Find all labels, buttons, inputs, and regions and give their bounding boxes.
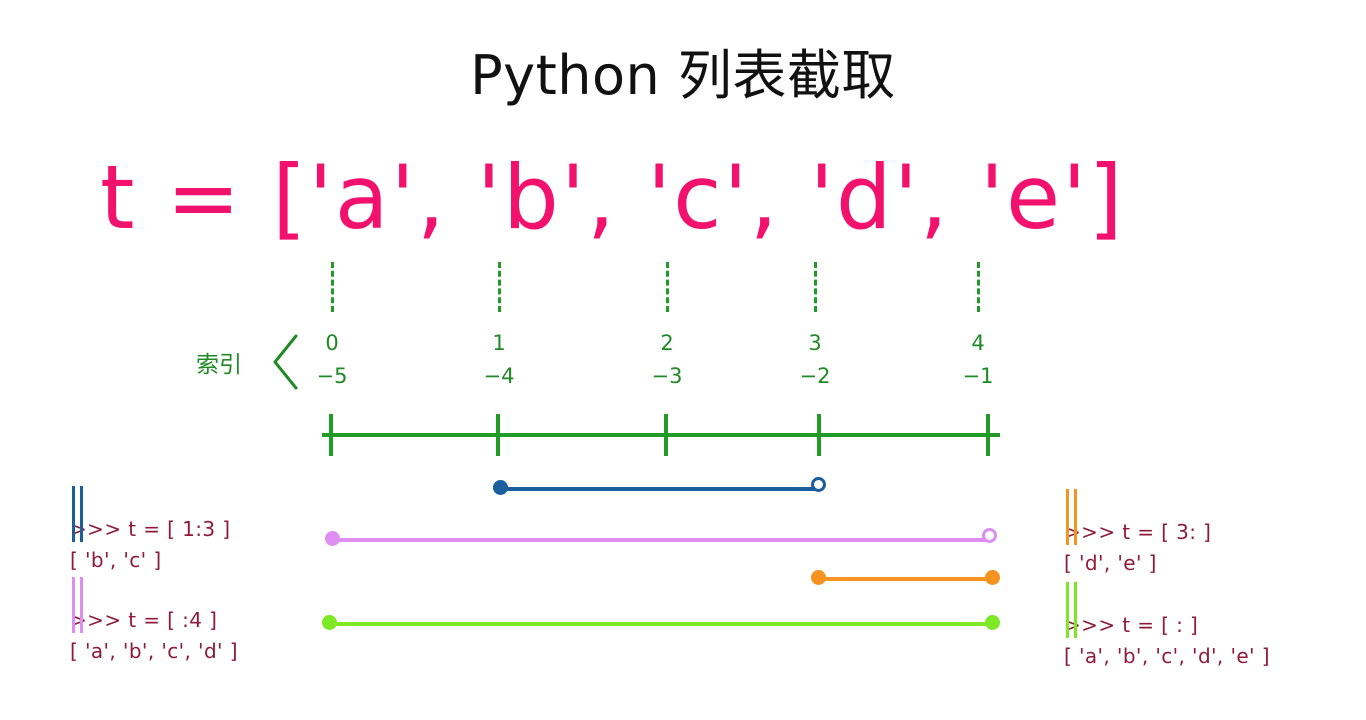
index-label-4: 4 −1 [938,333,1018,387]
index-negative-1: −4 [459,366,539,387]
slice-code-all: >>> t = [ : ] [1064,610,1270,641]
slice-endpoint-start-colon-4 [325,531,340,546]
slice-endpoint-end-3-colon [985,570,1000,585]
page-title: Python 列表截取 [0,48,1366,105]
accent-bars-colon-4 [70,577,86,633]
slice-caption-colon-4: >>> t = [ :4 ] [ 'a', 'b', 'c', 'd' ] [70,574,238,667]
index-negative-3: −2 [775,366,855,387]
slice-caption-1-3: >>> t = [ 1:3 ] [ 'b', 'c' ] [70,483,230,576]
index-label-2: 2 −3 [627,333,707,387]
accent-bars-3-colon [1064,489,1080,545]
index-leader-4 [977,262,980,312]
slice-result-1-3: [ 'b', 'c' ] [70,545,230,576]
slice-result-all: [ 'a', 'b', 'c', 'd', 'e' ] [1064,641,1270,672]
slice-result-3-colon: [ 'd', 'e' ] [1064,548,1211,579]
index-label-0: 0 −5 [292,333,372,387]
slice-caption-all: >>> t = [ : ] [ 'a', 'b', 'c', 'd', 'e' … [1064,579,1270,672]
index-leader-0 [331,262,334,312]
index-negative-4: −1 [938,366,1018,387]
accent-bars-all [1064,582,1080,638]
slice-segment-all [329,622,992,626]
slice-code-3-colon: >>> t = [ 3: ] [1064,517,1211,548]
index-leader-1 [498,262,501,312]
slice-segment-1-3 [500,487,818,491]
list-expression: t = ['a', 'b', 'c', 'd', 'e'] [100,152,1125,244]
index-positive-1: 1 [459,333,539,354]
index-axis [0,400,1366,470]
slice-endpoint-end-1-3 [811,477,826,492]
slice-endpoint-end-all [985,615,1000,630]
accent-bars-1-3 [70,486,86,542]
slice-endpoint-start-3-colon [811,570,826,585]
slice-segment-colon-4 [332,538,988,542]
slice-code-1-3: >>> t = [ 1:3 ] [70,514,230,545]
index-label-3: 3 −2 [775,333,855,387]
index-positive-2: 2 [627,333,707,354]
slice-code-colon-4: >>> t = [ :4 ] [70,605,238,636]
chevron-left-icon [272,334,298,390]
index-positive-4: 4 [938,333,1018,354]
index-positive-0: 0 [292,333,372,354]
slice-result-colon-4: [ 'a', 'b', 'c', 'd' ] [70,636,238,667]
slice-segment-3-colon [818,577,992,581]
index-leader-3 [814,262,817,312]
slide-canvas: Python 列表截取 t = ['a', 'b', 'c', 'd', 'e'… [0,0,1366,720]
index-leader-2 [666,262,669,312]
index-negative-2: −3 [627,366,707,387]
slice-endpoint-end-colon-4 [982,528,997,543]
slice-endpoint-start-all [322,615,337,630]
slice-endpoint-start-1-3 [493,480,508,495]
axis-legend-label: 索引 [196,345,242,379]
slice-caption-3-colon: >>> t = [ 3: ] [ 'd', 'e' ] [1064,486,1211,579]
index-negative-0: −5 [292,366,372,387]
index-positive-3: 3 [775,333,855,354]
index-label-1: 1 −4 [459,333,539,387]
